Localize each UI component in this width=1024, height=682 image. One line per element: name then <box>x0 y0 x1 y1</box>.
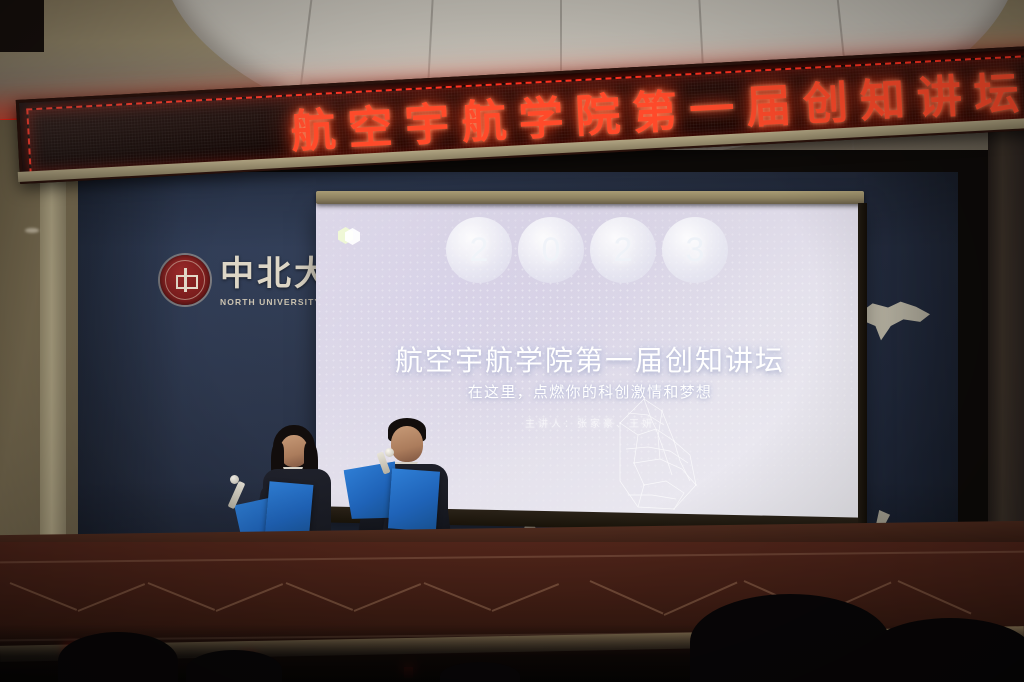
year-digit: 2 <box>590 217 656 283</box>
chevron-molding <box>492 583 560 612</box>
chevron-molding <box>78 583 146 612</box>
blue-folder <box>388 468 440 531</box>
chevron-molding <box>354 583 422 612</box>
chevron-molding <box>286 582 354 611</box>
wall-left-pillar <box>40 145 66 600</box>
year-digit: 2 <box>446 217 512 283</box>
wireframe-hand-icon <box>604 389 720 517</box>
chevron-molding <box>148 582 216 611</box>
projection-screen-right-frame <box>858 203 867 523</box>
audience-head-silhouette <box>866 618 1024 682</box>
year-digit: 0 <box>518 217 584 283</box>
slide-title: 航空宇航学院第一届创知讲坛 <box>316 339 864 379</box>
chevron-molding <box>590 580 664 614</box>
chevron-molding <box>424 582 492 611</box>
wall-left-reflection <box>25 228 39 233</box>
hexagon-mark-icon <box>338 227 360 249</box>
auditorium-photo: 中北大学 NORTH UNIVERSITY OF CHI 航空宇航学院第一届创知… <box>0 0 1024 682</box>
chevron-molding <box>10 582 78 611</box>
year-digit: 3 <box>662 217 728 283</box>
slide-year: 2 0 2 3 <box>446 217 728 283</box>
microphone-head <box>230 475 239 484</box>
projection-screen-roller <box>316 191 864 204</box>
chevron-molding <box>898 580 972 614</box>
head <box>391 426 423 462</box>
slide-subtitle: 在这里，点燃你的科创激情和梦想 <box>316 381 864 402</box>
chevron-molding <box>216 583 284 612</box>
audience-head-silhouette <box>690 594 890 682</box>
audience-head-silhouette <box>58 632 178 682</box>
audience-head-silhouette <box>186 650 282 682</box>
microphone-head <box>385 448 394 457</box>
stage-molding-line <box>0 551 1024 564</box>
